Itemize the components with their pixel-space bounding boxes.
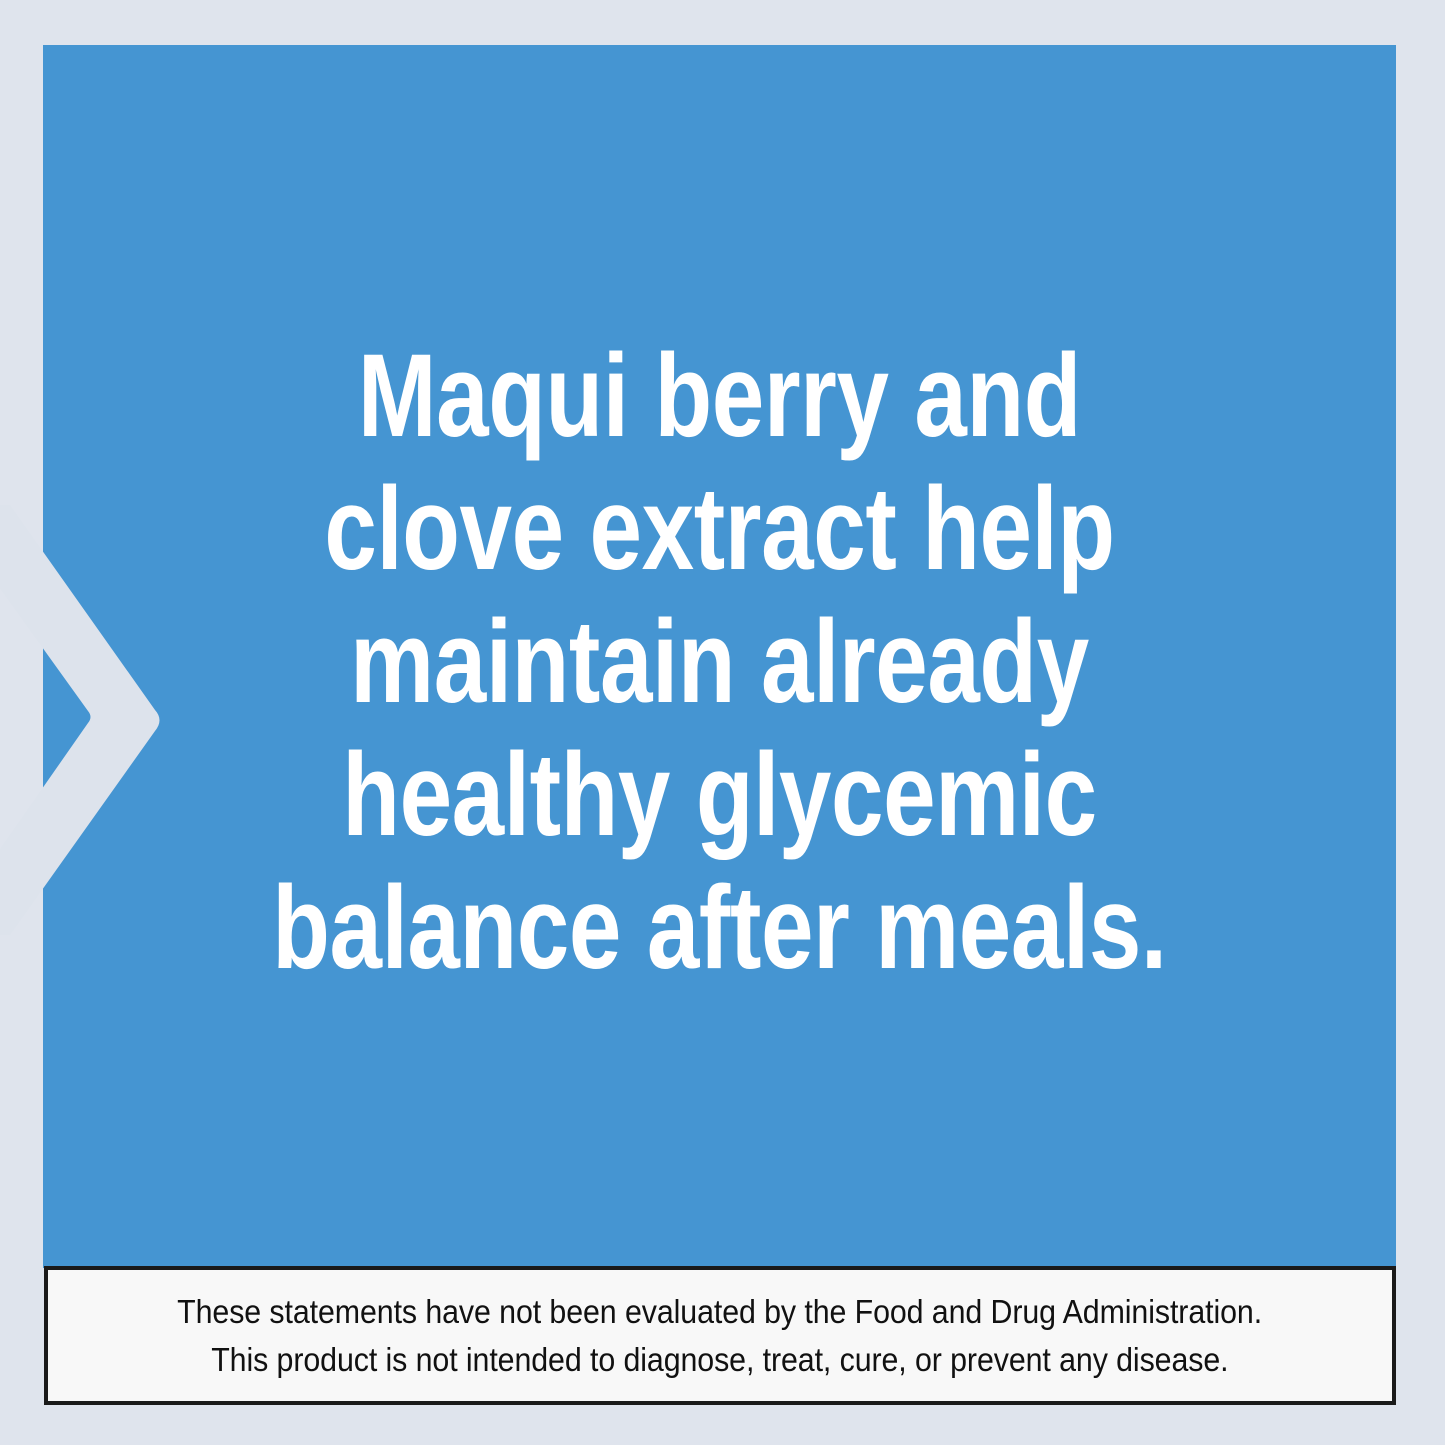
claim-card: Maqui berry andclove extract helpmaintai… <box>0 0 1445 1445</box>
disclaimer-line-2: This product is not intended to diagnose… <box>211 1336 1228 1384</box>
headline-text: Maqui berry andclove extract helpmaintai… <box>178 330 1260 995</box>
disclaimer-line-1: These statements have not been evaluated… <box>178 1288 1263 1336</box>
blue-panel: Maqui berry andclove extract helpmaintai… <box>43 45 1396 1268</box>
disclaimer-box: These statements have not been evaluated… <box>44 1266 1396 1405</box>
